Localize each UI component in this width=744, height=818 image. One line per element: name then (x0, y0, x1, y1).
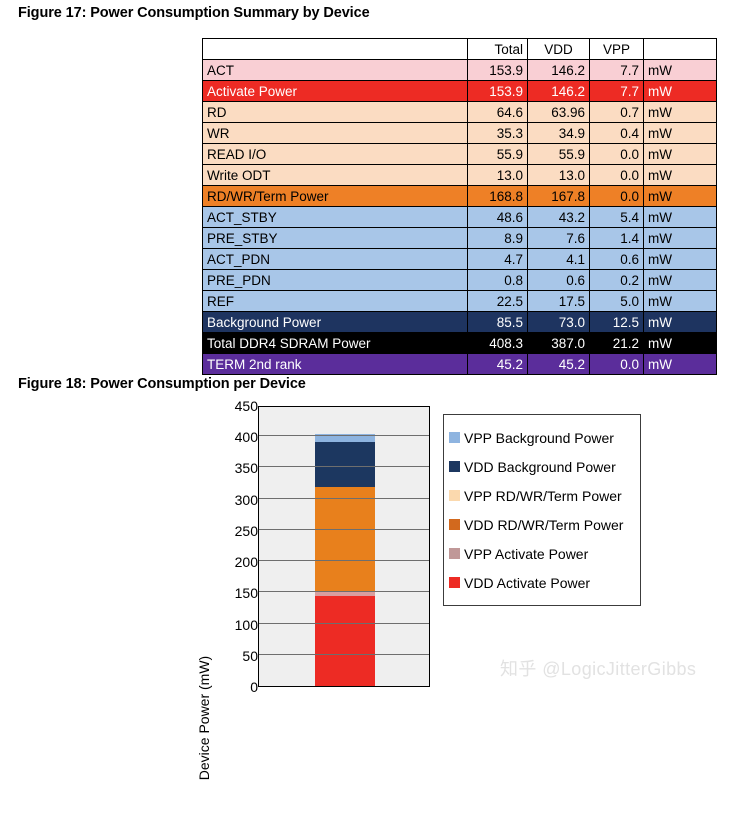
cell-vdd: 146.2 (528, 60, 590, 81)
cell-label: RD/WR/Term Power (203, 186, 468, 207)
cell-total: 48.6 (468, 207, 528, 228)
watermark: 知乎 @LogicJitterGibbs (500, 655, 696, 681)
grid-line (259, 435, 429, 436)
table-row: ACT_STBY48.643.25.4mW (203, 207, 717, 228)
cell-total: 168.8 (468, 186, 528, 207)
cell-vpp: 21.2 (590, 333, 644, 354)
cell-total: 64.6 (468, 102, 528, 123)
cell-vdd: 45.2 (528, 354, 590, 375)
cell-vpp: 0.4 (590, 123, 644, 144)
cell-vdd: 55.9 (528, 144, 590, 165)
cell-unit: mW (644, 207, 717, 228)
cell-unit: mW (644, 354, 717, 375)
table-row: REF22.517.55.0mW (203, 291, 717, 312)
table-row: RD/WR/Term Power168.8167.80.0mW (203, 186, 717, 207)
table-row: RD64.663.960.7mW (203, 102, 717, 123)
cell-total: 0.8 (468, 270, 528, 291)
legend-item[interactable]: VDD Background Power (449, 452, 634, 481)
table-row: READ I/O55.955.90.0mW (203, 144, 717, 165)
cell-vdd: 63.96 (528, 102, 590, 123)
legend-item[interactable]: VPP Activate Power (449, 539, 634, 568)
cell-label: PRE_STBY (203, 228, 468, 249)
cell-unit: mW (644, 123, 717, 144)
cell-total: 55.9 (468, 144, 528, 165)
cell-total: 4.7 (468, 249, 528, 270)
cell-unit: mW (644, 81, 717, 102)
table-body: ACT153.9146.27.7mWActivate Power153.9146… (203, 60, 717, 375)
cell-label: ACT_PDN (203, 249, 468, 270)
cell-unit: mW (644, 60, 717, 81)
cell-total: 85.5 (468, 312, 528, 333)
header-cell-vpp: VPP (590, 39, 644, 60)
y-tick-label: 0 (212, 679, 258, 695)
cell-vdd: 7.6 (528, 228, 590, 249)
y-tick-label: 300 (212, 492, 258, 508)
cell-unit: mW (644, 291, 717, 312)
cell-vpp: 0.6 (590, 249, 644, 270)
grid-line (259, 591, 429, 592)
legend-label: VPP RD/WR/Term Power (464, 488, 622, 504)
y-tick-label: 350 (212, 460, 258, 476)
cell-vdd: 73.0 (528, 312, 590, 333)
cell-unit: mW (644, 186, 717, 207)
legend-label: VDD Activate Power (464, 575, 590, 591)
grid-line (259, 498, 429, 499)
cell-label: READ I/O (203, 144, 468, 165)
table-row: TERM 2nd rank45.245.20.0mW (203, 354, 717, 375)
cell-unit: mW (644, 249, 717, 270)
bar-segment[interactable] (315, 442, 375, 487)
cell-vpp: 0.2 (590, 270, 644, 291)
table-header: Total VDD VPP (203, 39, 717, 60)
table-header-row: Total VDD VPP (203, 39, 717, 60)
cell-total: 45.2 (468, 354, 528, 375)
y-tick-label: 250 (212, 523, 258, 539)
cell-unit: mW (644, 102, 717, 123)
table-row: Total DDR4 SDRAM Power408.3387.021.2mW (203, 333, 717, 354)
y-tick-label: 100 (212, 617, 258, 633)
cell-vpp: 5.4 (590, 207, 644, 228)
cell-unit: mW (644, 333, 717, 354)
legend-swatch-icon (449, 519, 460, 530)
cell-total: 22.5 (468, 291, 528, 312)
grid-line (259, 560, 429, 561)
cell-vdd: 146.2 (528, 81, 590, 102)
legend-label: VPP Background Power (464, 430, 614, 446)
grid-line (259, 466, 429, 467)
power-summary-table: Total VDD VPP ACT153.9146.27.7mWActivate… (202, 38, 717, 375)
header-cell-unit (644, 39, 717, 60)
legend-label: VPP Activate Power (464, 546, 588, 562)
legend-swatch-icon (449, 548, 460, 559)
legend-swatch-icon (449, 461, 460, 472)
cell-label: REF (203, 291, 468, 312)
cell-label: ACT (203, 60, 468, 81)
cell-vpp: 0.0 (590, 354, 644, 375)
cell-total: 35.3 (468, 123, 528, 144)
legend-item[interactable]: VPP RD/WR/Term Power (449, 481, 634, 510)
legend-item[interactable]: VPP Background Power (449, 423, 634, 452)
cell-label: Activate Power (203, 81, 468, 102)
cell-vdd: 17.5 (528, 291, 590, 312)
table-row: Write ODT13.013.00.0mW (203, 165, 717, 186)
table-row: Background Power85.573.012.5mW (203, 312, 717, 333)
cell-unit: mW (644, 165, 717, 186)
cell-label: TERM 2nd rank (203, 354, 468, 375)
chart-plot-area (258, 406, 430, 687)
cell-vpp: 0.0 (590, 144, 644, 165)
table-row: ACT153.9146.27.7mW (203, 60, 717, 81)
table-row: PRE_PDN0.80.60.2mW (203, 270, 717, 291)
cell-total: 8.9 (468, 228, 528, 249)
cell-vdd: 167.8 (528, 186, 590, 207)
y-tick-label: 150 (212, 585, 258, 601)
legend-swatch-icon (449, 577, 460, 588)
grid-line (259, 623, 429, 624)
cell-label: ACT_STBY (203, 207, 468, 228)
y-tick-label: 50 (212, 648, 258, 664)
cell-vpp: 0.0 (590, 165, 644, 186)
header-cell-vdd: VDD (528, 39, 590, 60)
cell-label: Background Power (203, 312, 468, 333)
cell-vpp: 0.0 (590, 186, 644, 207)
cell-unit: mW (644, 270, 717, 291)
y-tick-label: 400 (212, 429, 258, 445)
cell-vpp: 1.4 (590, 228, 644, 249)
header-cell-blank (203, 39, 468, 60)
chart-legend: VPP Background PowerVDD Background Power… (443, 414, 641, 606)
cell-total: 153.9 (468, 60, 528, 81)
cell-vdd: 387.0 (528, 333, 590, 354)
figure-17-caption: Figure 17: Power Consumption Summary by … (18, 5, 370, 21)
cell-vpp: 5.0 (590, 291, 644, 312)
cell-total: 153.9 (468, 81, 528, 102)
y-tick-label: 200 (212, 554, 258, 570)
cell-unit: mW (644, 144, 717, 165)
cell-label: WR (203, 123, 468, 144)
cell-label: Write ODT (203, 165, 468, 186)
cell-label: Total DDR4 SDRAM Power (203, 333, 468, 354)
bar-segment[interactable] (315, 596, 375, 686)
cell-vpp: 7.7 (590, 60, 644, 81)
cell-vdd: 34.9 (528, 123, 590, 144)
chart-y-axis-ticks: 450400350300250200150100500 (208, 400, 258, 688)
figure-18-caption: Figure 18: Power Consumption per Device (18, 376, 306, 392)
cell-total: 13.0 (468, 165, 528, 186)
cell-label: PRE_PDN (203, 270, 468, 291)
table-row: PRE_STBY8.97.61.4mW (203, 228, 717, 249)
legend-label: VDD RD/WR/Term Power (464, 517, 623, 533)
legend-swatch-icon (449, 490, 460, 501)
legend-label: VDD Background Power (464, 459, 616, 475)
table-row: Activate Power153.9146.27.7mW (203, 81, 717, 102)
legend-item[interactable]: VDD Activate Power (449, 568, 634, 597)
cell-vdd: 13.0 (528, 165, 590, 186)
legend-item[interactable]: VDD RD/WR/Term Power (449, 510, 634, 539)
y-tick-label: 450 (212, 398, 258, 414)
power-summary-table-container: Total VDD VPP ACT153.9146.27.7mWActivate… (202, 38, 716, 375)
cell-vpp: 12.5 (590, 312, 644, 333)
bar-segment[interactable] (315, 487, 375, 591)
legend-swatch-icon (449, 432, 460, 443)
cell-vdd: 0.6 (528, 270, 590, 291)
header-cell-total: Total (468, 39, 528, 60)
grid-line (259, 529, 429, 530)
table-row: ACT_PDN4.74.10.6mW (203, 249, 717, 270)
grid-line (259, 654, 429, 655)
cell-label: RD (203, 102, 468, 123)
table-row: WR35.334.90.4mW (203, 123, 717, 144)
cell-total: 408.3 (468, 333, 528, 354)
cell-vpp: 0.7 (590, 102, 644, 123)
cell-vdd: 4.1 (528, 249, 590, 270)
cell-unit: mW (644, 312, 717, 333)
cell-vpp: 7.7 (590, 81, 644, 102)
cell-unit: mW (644, 228, 717, 249)
cell-vdd: 43.2 (528, 207, 590, 228)
